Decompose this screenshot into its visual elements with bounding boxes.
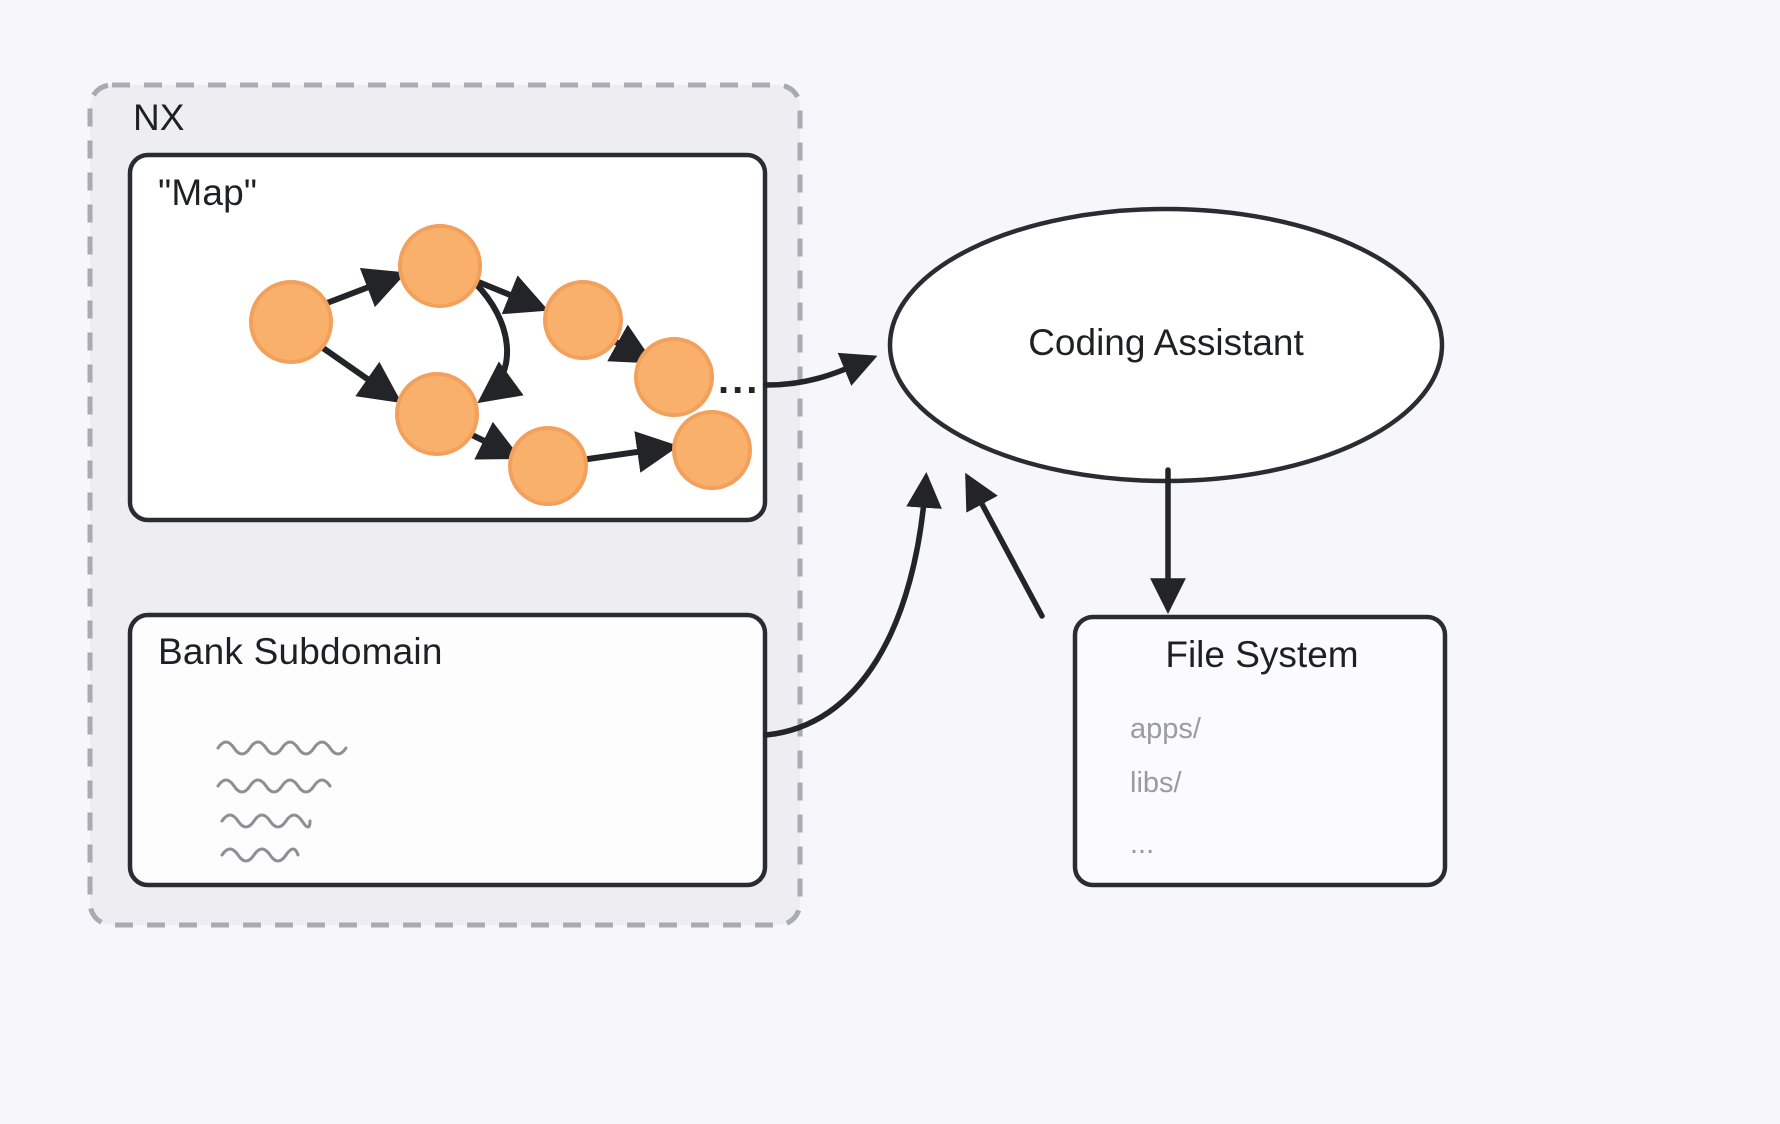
graph-node[interactable] (636, 339, 712, 415)
graph-node[interactable] (510, 428, 586, 504)
bank-subdomain-panel-title: Bank Subdomain (158, 631, 443, 673)
map-panel-title: "Map" (158, 172, 257, 214)
graph-node[interactable] (251, 282, 331, 362)
graph-node[interactable] (674, 412, 750, 488)
coding-assistant-label: Coding Assistant (890, 322, 1442, 364)
diagram-vector-layer (0, 0, 1780, 1124)
diagram-canvas: NX "Map" Bank Subdomain Coding Assistant… (0, 0, 1780, 1124)
file-system-panel-title: File System (1077, 634, 1447, 676)
graph-node[interactable] (545, 282, 621, 358)
graph-node[interactable] (400, 226, 480, 306)
nx-group-label: NX (133, 97, 184, 139)
graph-node[interactable] (397, 374, 477, 454)
file-system-item-apps[interactable]: apps/ (1130, 713, 1201, 746)
file-system-item-libs[interactable]: libs/ (1130, 767, 1182, 800)
file-system-item-more: ... (1130, 828, 1154, 861)
graph-ellipsis: ... (718, 358, 760, 403)
connector-filesystem-to-assistant (968, 478, 1042, 616)
